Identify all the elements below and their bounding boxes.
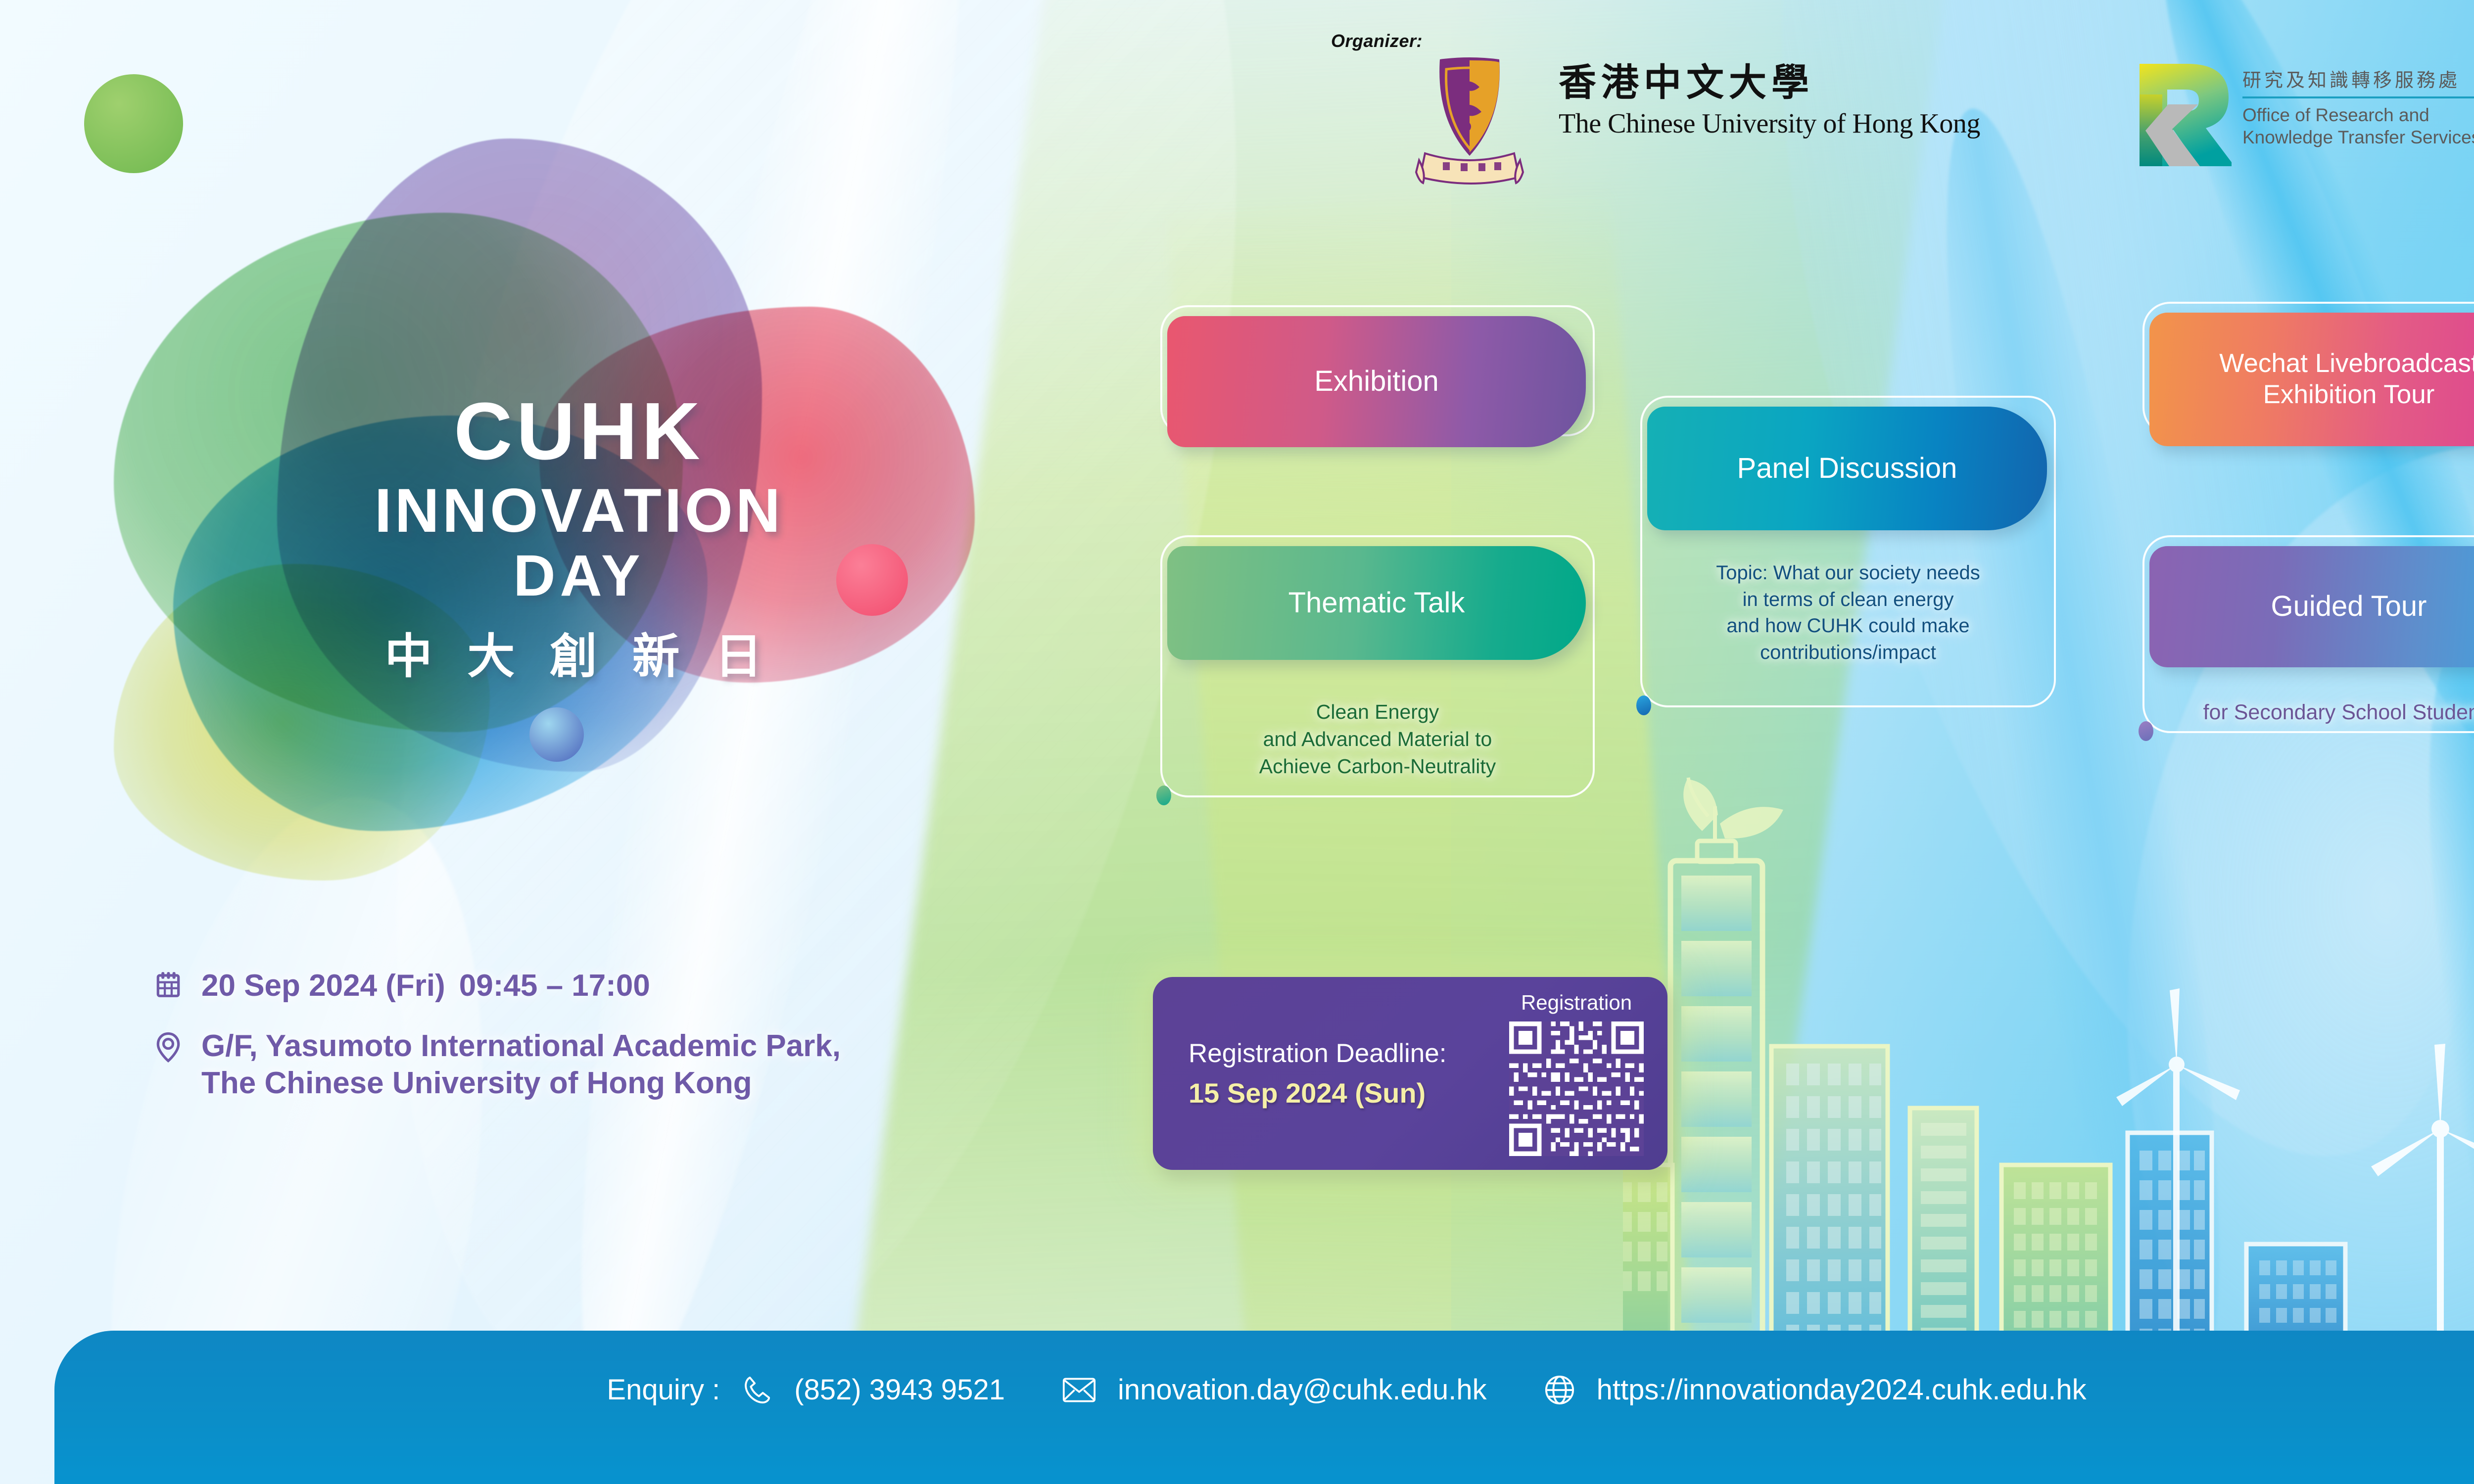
- cuhk-name-en: The Chinese University of Hong Kong: [1559, 108, 1980, 139]
- event-info: 20 Sep 2024 (Fri)09:45 – 17:00 G/F, Yasu…: [156, 967, 1195, 1125]
- orkts-logo: 研究及知識轉移服務處 Office of Research and Knowle…: [2138, 62, 2474, 168]
- event-venue-line1: G/F, Yasumoto International Academic Par…: [201, 1027, 841, 1065]
- dot-green: [84, 74, 183, 173]
- card-label: Panel Discussion: [1719, 452, 1975, 485]
- event-venue: G/F, Yasumoto International Academic Par…: [201, 1027, 841, 1102]
- email-address[interactable]: innovation.day@cuhk.edu.hk: [1118, 1373, 1487, 1406]
- website-url[interactable]: https://innovationday2024.cuhk.edu.hk: [1597, 1373, 2087, 1406]
- program-card-thematic-talk[interactable]: Thematic Talk Clean Energyand Advanced M…: [1160, 535, 1595, 797]
- registration-deadline-label: Registration Deadline:: [1189, 1038, 1504, 1069]
- event-venue-row: G/F, Yasumoto International Academic Par…: [156, 1027, 1195, 1102]
- envelope-icon: [1062, 1377, 1096, 1403]
- title-chinese: 中 大 創 新 日: [233, 618, 925, 687]
- orkts-divider: [2242, 96, 2474, 98]
- card-label: Guided Tour: [2253, 590, 2445, 623]
- card-pill: Panel Discussion: [1647, 407, 2047, 530]
- orkts-name-en-line2: Knowledge Transfer Services: [2242, 126, 2474, 148]
- qr-code-icon[interactable]: [1509, 1021, 1644, 1156]
- title-line-cuhk: CUHK: [233, 391, 925, 472]
- card-pill: Exhibition: [1167, 316, 1586, 447]
- cuhk-wordmark: 香港中文大學 The Chinese University of Hong Ko…: [1559, 64, 1980, 139]
- event-datetime: 20 Sep 2024 (Fri)09:45 – 17:00: [201, 967, 650, 1005]
- event-date-row: 20 Sep 2024 (Fri)09:45 – 17:00: [156, 967, 1195, 1005]
- green-city-illustration: [1623, 717, 2474, 1360]
- card-pill: Thematic Talk: [1167, 546, 1586, 660]
- calendar-icon: [156, 967, 185, 1000]
- program-card-exhibition[interactable]: Exhibition: [1160, 305, 1595, 436]
- orkts-name-en-line1: Office of Research and: [2242, 104, 2474, 126]
- card-pill: Wechat LivebroadcastExhibition Tour: [2149, 313, 2474, 446]
- page-title: CUHK INNOVATION DAY 中 大 創 新 日: [233, 391, 925, 687]
- card-bullet-dot: [2139, 721, 2153, 741]
- card-bullet-dot: [1636, 696, 1651, 715]
- cuhk-name-zh: 香港中文大學: [1559, 64, 1980, 102]
- card-subtitle: for Secondary School Students: [2142, 698, 2474, 727]
- card-subtitle: Clean Energyand Advanced Material toAchi…: [1160, 698, 1595, 780]
- phone-number[interactable]: (852) 3943 9521: [794, 1373, 1005, 1406]
- card-label: Exhibition: [1296, 365, 1456, 398]
- card-bullet-dot: [1156, 786, 1171, 805]
- registration-qr-label: Registration: [1504, 991, 1649, 1015]
- event-date: 20 Sep 2024 (Fri): [201, 969, 445, 1003]
- card-pill: Guided Tour: [2149, 546, 2474, 667]
- cuhk-crest-icon: [1395, 54, 1544, 193]
- registration-deadline-group: Registration Deadline: 15 Sep 2024 (Sun): [1153, 1038, 1504, 1110]
- card-label: Thematic Talk: [1271, 586, 1483, 620]
- phone-icon: [742, 1375, 772, 1405]
- event-time: 09:45 – 17:00: [459, 969, 650, 1003]
- registration-deadline-date: 15 Sep 2024 (Sun): [1189, 1077, 1504, 1109]
- program-card-wechat-livebroadcast[interactable]: Wechat LivebroadcastExhibition Tour: [2142, 302, 2474, 435]
- registration-qr-group[interactable]: Registration: [1504, 991, 1667, 1156]
- card-subtitle: Topic: What our society needsin terms of…: [1640, 560, 2056, 666]
- orkts-r-mark-icon: [2138, 62, 2232, 168]
- title-line-day: DAY: [233, 547, 925, 605]
- program-card-panel-discussion[interactable]: Panel Discussion Topic: What our society…: [1640, 396, 2056, 707]
- card-label: Wechat LivebroadcastExhibition Tour: [2201, 348, 2474, 410]
- globe-icon: [1544, 1375, 1575, 1405]
- contact-footer: Enquiry : (852) 3943 9521 innovation.day…: [54, 1331, 2474, 1484]
- title-line-innovation: INNOVATION: [233, 480, 925, 542]
- registration-box[interactable]: Registration Deadline: 15 Sep 2024 (Sun)…: [1153, 977, 1667, 1170]
- enquiry-label: Enquiry :: [607, 1373, 720, 1406]
- dot-blue: [529, 707, 584, 762]
- program-card-guided-tour[interactable]: Guided Tour for Secondary School Student…: [2142, 535, 2474, 733]
- event-venue-line2: The Chinese University of Hong Kong: [201, 1065, 841, 1102]
- organizer-label: Organizer:: [1331, 31, 1423, 51]
- location-pin-icon: [156, 1027, 185, 1066]
- orkts-name-zh: 研究及知識轉移服務處: [2242, 65, 2474, 92]
